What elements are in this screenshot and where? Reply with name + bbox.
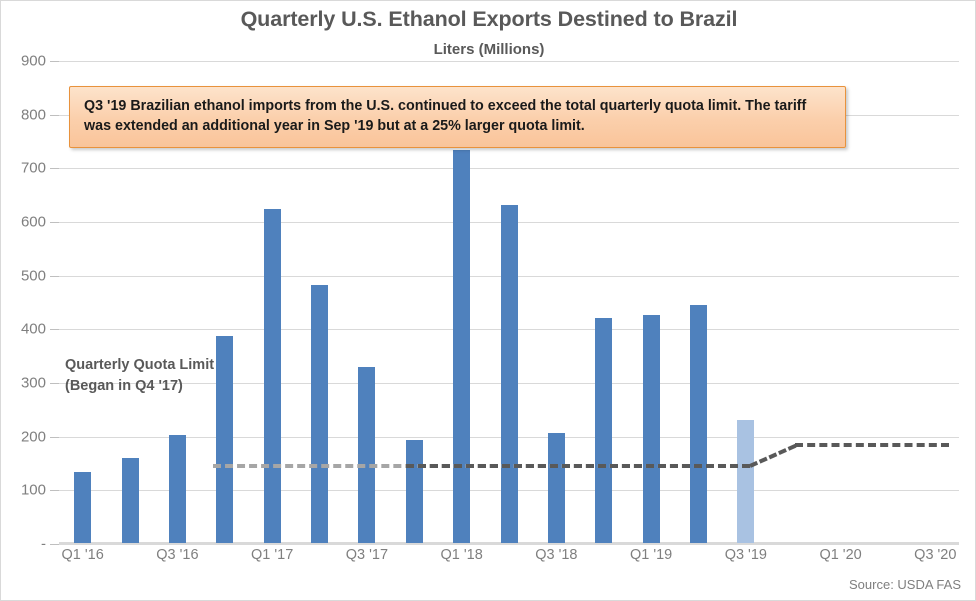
bar [501,205,518,543]
x-axis-label: Q3 '19 [725,547,767,563]
chart-title: Quarterly U.S. Ethanol Exports Destined … [1,7,976,32]
y-tickmark [50,383,59,384]
x-axis-label: Q1 '19 [630,547,672,563]
bar [169,435,186,543]
bar [264,209,281,543]
y-axis-label: 700 [21,160,46,177]
bar [453,150,470,543]
quota-line-upper [795,443,949,447]
bar [74,472,91,543]
bar [122,458,139,543]
chart-container: Quarterly U.S. Ethanol Exports Destined … [0,0,976,601]
source-label: Source: USDA FAS [849,577,961,592]
bar [311,285,328,543]
gridline [59,544,959,545]
y-tickmark [50,329,59,330]
quota-line-step [749,444,796,468]
x-axis-label: Q3 '17 [346,547,388,563]
y-tickmark [50,276,59,277]
y-axis-label: 300 [21,375,46,392]
y-tickmark [50,222,59,223]
quota-line-dark [406,464,750,468]
x-axis-label: Q1 '20 [819,547,861,563]
y-axis-label: 800 [21,106,46,123]
bar [690,305,707,543]
y-axis-label: 200 [21,428,46,445]
y-tickmark [50,115,59,116]
bar [595,318,612,543]
callout-annotation: Q3 '19 Brazilian ethanol imports from th… [69,86,846,148]
quota-limit-label: Quarterly Quota Limit (Began in Q4 '17) [65,355,214,397]
y-axis-label: 400 [21,321,46,338]
bar [643,315,660,543]
gridline [59,168,959,169]
y-axis-label: 600 [21,214,46,231]
y-axis-label: - [41,536,46,553]
bar [406,440,423,543]
y-axis-label: 900 [21,53,46,70]
gridline [59,61,959,62]
y-axis-label: 100 [21,482,46,499]
y-axis-label: 500 [21,267,46,284]
x-axis-label: Q1 '17 [251,547,293,563]
x-axis-label: Q3 '16 [156,547,198,563]
bar [358,367,375,543]
bar [548,433,565,543]
y-tickmark [50,490,59,491]
x-axis-label: Q3 '20 [914,547,956,563]
bar [216,336,233,543]
y-tickmark [50,437,59,438]
bar [737,420,754,543]
y-tickmark [50,168,59,169]
chart-subtitle: Liters (Millions) [1,41,976,58]
x-axis-label: Q1 '18 [440,547,482,563]
y-tickmark [50,544,59,545]
x-axis-label: Q1 '16 [62,547,104,563]
y-tickmark [50,61,59,62]
x-axis-label: Q3 '18 [535,547,577,563]
